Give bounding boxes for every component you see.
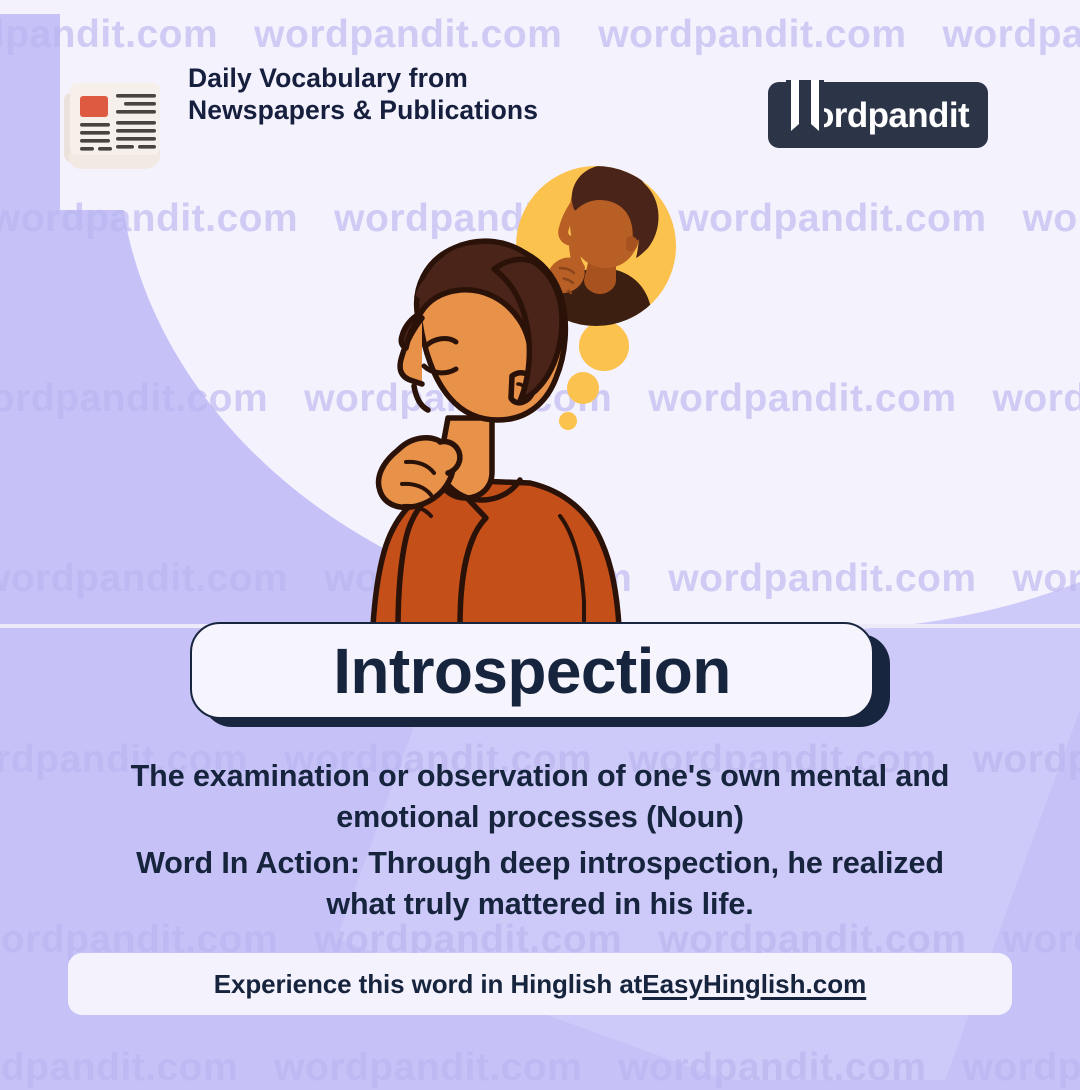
example-line-2: what truly mattered in his life.: [40, 884, 1040, 925]
header-title-line-1: Daily Vocabulary from: [188, 62, 538, 94]
bookmark-w-icon: [782, 78, 828, 140]
header-title-line-2: Newspapers & Publications: [188, 94, 538, 126]
hinglish-banner-text: Experience this word in Hinglish at: [214, 969, 642, 1000]
newspaper-icon: [58, 74, 176, 170]
word-definition: The examination or observation of one's …: [40, 756, 1040, 838]
word-card-body: Introspection: [190, 622, 874, 719]
background-top-band-edge: [0, 0, 1080, 14]
wordpandit-logo[interactable]: ordpandit: [768, 82, 988, 148]
vocabulary-word: Introspection: [333, 639, 731, 703]
hinglish-banner[interactable]: Experience this word in Hinglish at Easy…: [68, 953, 1012, 1015]
thought-dot-small: [559, 412, 577, 430]
thinking-person-illustration: [0, 150, 1080, 628]
definition-line-1: The examination or observation of one's …: [40, 756, 1040, 797]
easyhinglish-link[interactable]: EasyHinglish.com: [642, 969, 866, 1000]
header: Daily Vocabulary from Newspapers & Publi…: [0, 64, 1080, 170]
thought-dot-large: [579, 321, 629, 371]
word-card: Introspection: [190, 622, 890, 727]
thought-dot-medium: [567, 372, 599, 404]
definition-line-2: emotional processes (Noun): [40, 797, 1040, 838]
brand-logo-text: ordpandit: [813, 98, 969, 133]
page-title: Daily Vocabulary from Newspapers & Publi…: [188, 62, 538, 126]
example-line-1: Word In Action: Through deep introspecti…: [40, 843, 1040, 884]
word-in-action: Word In Action: Through deep introspecti…: [40, 843, 1040, 925]
